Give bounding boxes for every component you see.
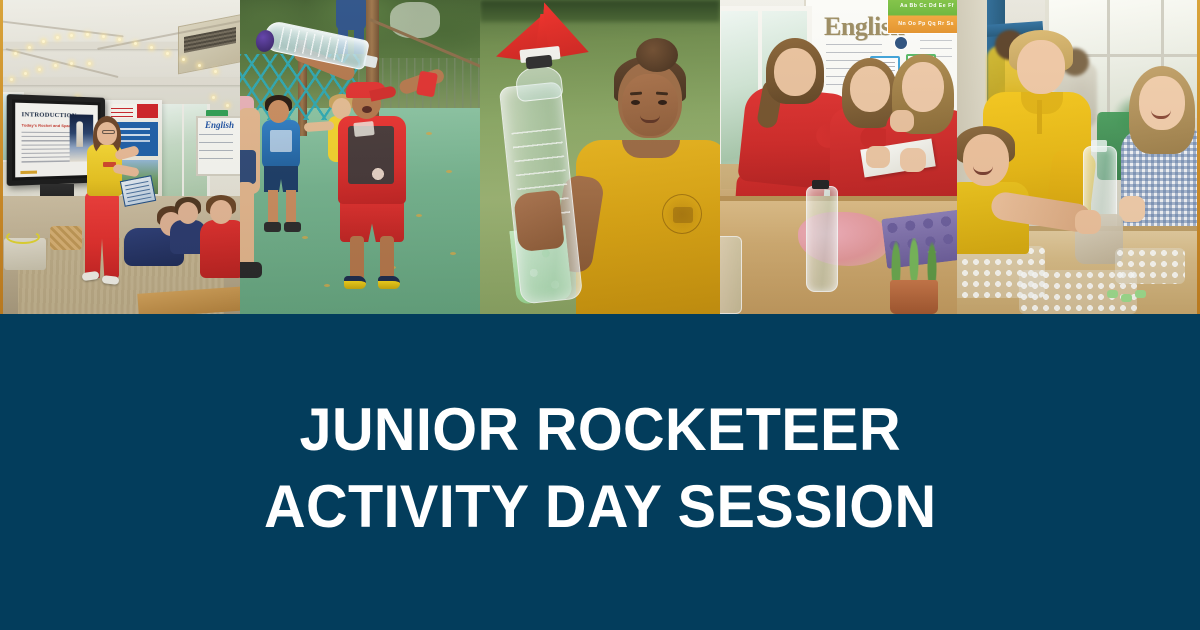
table-edge xyxy=(720,196,957,201)
banner-title-line-2: ACTIVITY DAY SESSION xyxy=(264,469,936,546)
girl-hair-bun xyxy=(636,38,678,72)
ceiling-beam xyxy=(0,78,240,85)
plastic-bottle xyxy=(806,186,838,292)
photo-panel-boy-holding-rocket: Boy in a red t-shirt, red shorts and red… xyxy=(240,0,480,314)
foreground-child-shoe xyxy=(240,262,262,278)
title-band: JUNIOR ROCKETEER ACTIVITY DAY SESSION xyxy=(0,314,1200,630)
banner-title-line-1: JUNIOR ROCKETEER xyxy=(299,392,900,469)
treeline xyxy=(480,0,720,22)
seated-child-head xyxy=(210,200,232,224)
door-mullion xyxy=(182,104,184,204)
left-accent-edge xyxy=(0,0,3,314)
photo-strip: English INTRODUCTION Today's Rocket and … xyxy=(0,0,1200,314)
girl-hand xyxy=(1119,196,1145,222)
bottle-rocket-neck xyxy=(1091,140,1107,152)
girl-c-hand xyxy=(900,148,926,172)
slide-footer-logo xyxy=(20,171,37,174)
screen-surface: INTRODUCTION Today's Rocket and Space Da… xyxy=(15,103,98,178)
wicker-basket xyxy=(50,226,82,250)
polo-placket xyxy=(1037,100,1042,134)
seated-child-head xyxy=(178,202,198,224)
seated-child-body xyxy=(200,220,240,278)
school-crest-badge xyxy=(662,194,702,234)
foreground-child-shorts xyxy=(240,150,256,184)
event-banner: English INTRODUCTION Today's Rocket and … xyxy=(0,0,1200,630)
girl-a-head xyxy=(774,48,816,96)
alphabet-row-1: Aa Bb Cc Dd Ee Ff xyxy=(900,3,954,9)
background-child-shirt-print xyxy=(270,130,292,152)
bottle-cap xyxy=(812,180,829,189)
plastic-bottle xyxy=(720,236,742,314)
slide-body-text xyxy=(22,132,70,163)
photo-panel-girl-with-bottle-rocket: Smiling girl with her hair in a bun, wea… xyxy=(480,0,720,314)
girl-hand xyxy=(513,190,565,252)
yellow-cable xyxy=(6,230,40,244)
girl-a-hand xyxy=(890,110,914,132)
whiteboard-heading-text: English xyxy=(205,120,234,130)
boy-mouth xyxy=(362,106,372,113)
child-on-climbing-frame xyxy=(336,0,366,30)
bottle-rocket-neck xyxy=(363,55,378,68)
presenter-glasses xyxy=(102,130,115,134)
banner-header xyxy=(108,104,158,118)
photo-panel-children-building-rocket: Two boys in yellow polo shirts and a gir… xyxy=(957,0,1200,314)
bubble-wrap xyxy=(1115,248,1185,284)
alphabet-row-2: Nn Oo Pp Qq Rr Ss xyxy=(898,21,954,27)
boy-front-hand xyxy=(1075,210,1101,234)
girl-head xyxy=(1139,76,1185,130)
photo-panel-girls-in-red-overalls: English Aa Bb Cc Dd Ee Ff Nn Oo Pp Qq Rr… xyxy=(720,0,957,314)
wall-clock xyxy=(894,36,908,50)
girl-neckline xyxy=(622,140,680,158)
boy-tshirt-print xyxy=(353,121,374,137)
boy-front-head xyxy=(963,134,1009,186)
girl-face xyxy=(622,74,678,136)
alphabet-strip: Aa Bb Cc Dd Ee Ff Nn Oo Pp Qq Rr Ss xyxy=(887,0,957,34)
background-child-head xyxy=(268,100,289,123)
polo-collar xyxy=(1021,92,1063,114)
photo-panel-classroom-presentation: English INTRODUCTION Today's Rocket and … xyxy=(0,0,240,314)
girl-b-hand xyxy=(866,146,890,168)
girl-c-head xyxy=(902,62,944,112)
girl-b-head xyxy=(850,66,890,112)
boy-head xyxy=(1017,40,1065,94)
presenter-shoe xyxy=(102,275,120,285)
plant-pot xyxy=(890,280,938,314)
slide-title-text: INTRODUCTION xyxy=(22,111,77,119)
foreground-child-leg xyxy=(240,182,254,268)
